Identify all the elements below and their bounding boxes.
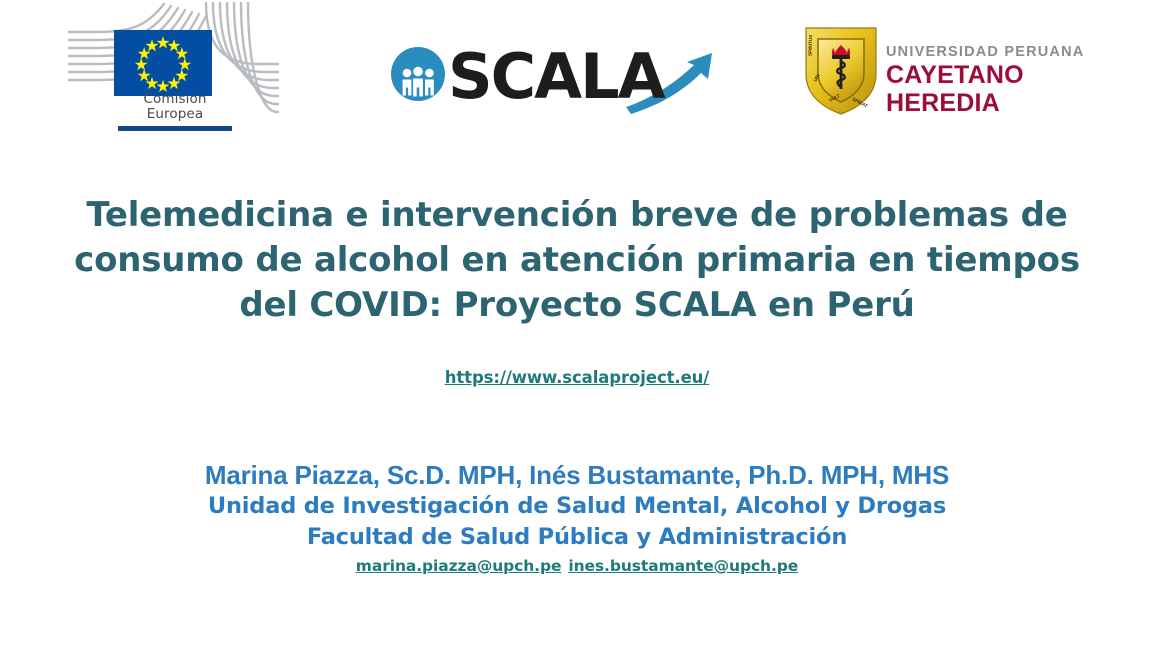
- upch-wordmark: UNIVERSIDAD PERUANA CAYETANO HEREDIA: [886, 44, 1110, 117]
- author-names: Marina Piazza, Sc.D. MPH, Inés Bustamant…: [0, 460, 1154, 491]
- scala-project-logo: SCALA: [390, 40, 720, 116]
- upch-line-universidad-peruana: UNIVERSIDAD PERUANA: [886, 44, 1110, 61]
- european-commission-rule: [118, 126, 232, 131]
- title-slide: Comisión Europea: [0, 0, 1154, 645]
- upch-shield-icon: SPIRITUS UBI VULT SPIRAT: [800, 22, 882, 118]
- scala-people-circle-icon: [391, 47, 445, 101]
- scala-project-link[interactable]: https://www.scalaproject.eu/: [445, 368, 710, 387]
- page-title: Telemedicina e intervención breve de pro…: [60, 193, 1094, 328]
- email-link-ines-bustamante[interactable]: ines.bustamante@upch.pe: [568, 557, 798, 575]
- european-commission-logo: Comisión Europea: [68, 2, 316, 134]
- logo-bar: Comisión Europea: [0, 0, 1154, 140]
- svg-text:SPIRITUS: SPIRITUS: [808, 35, 814, 56]
- universidad-peruana-cayetano-heredia-logo: SPIRITUS UBI VULT SPIRAT UNIVE: [800, 22, 1110, 118]
- scala-wordmark: SCALA: [448, 44, 664, 110]
- upch-line-cayetano-heredia: CAYETANO HEREDIA: [886, 61, 1110, 117]
- european-commission-caption: Comisión Europea: [115, 92, 235, 122]
- author-unit: Unidad de Investigación de Salud Mental,…: [0, 491, 1154, 522]
- author-emails: marina.piazza@upch.peines.bustamante@upc…: [0, 556, 1154, 576]
- author-block: Marina Piazza, Sc.D. MPH, Inés Bustamant…: [0, 460, 1154, 576]
- ec-caption-line-1: Comisión: [144, 91, 207, 107]
- email-link-marina-piazza[interactable]: marina.piazza@upch.pe: [356, 557, 562, 575]
- author-faculty: Facultad de Salud Pública y Administraci…: [0, 522, 1154, 553]
- project-link-row: https://www.scalaproject.eu/: [0, 368, 1154, 388]
- ec-caption-line-2: Europea: [147, 106, 203, 122]
